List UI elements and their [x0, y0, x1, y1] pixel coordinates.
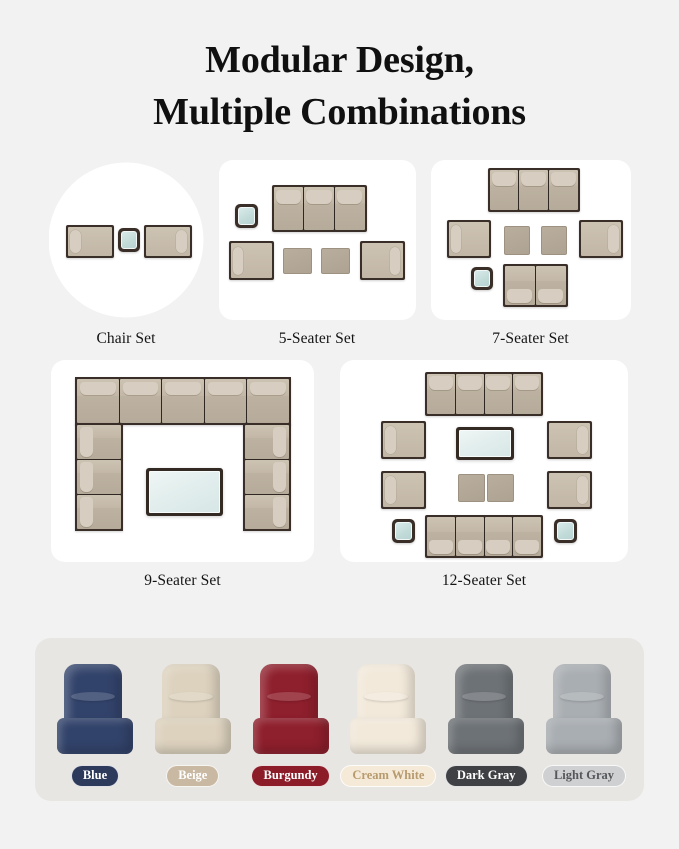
sofa-three-seat-top: [272, 185, 367, 232]
cushion-preview-beige: [153, 664, 233, 756]
set-cell-chair: Chair Set: [49, 160, 204, 348]
chair-lower-right: [547, 471, 592, 509]
seat-cushion: [546, 718, 622, 754]
side-table-bottom-left: [471, 267, 493, 290]
set-row-bottom: 9-Seater Set: [0, 360, 679, 590]
coffee-table-center: [146, 468, 223, 516]
ottoman-right: [541, 226, 567, 255]
color-label-dark-gray: Dark Gray: [445, 765, 528, 787]
layout-diagram-12-seater: [340, 360, 628, 562]
chair-right: [144, 225, 192, 258]
set-label-5-seater-set: 5-Seater Set: [279, 330, 356, 348]
title-line-1: Modular Design,: [0, 34, 679, 86]
cushion-preview-blue: [55, 664, 135, 756]
ottoman-right: [321, 248, 350, 274]
sofa-four-seat-bottom: [425, 515, 543, 558]
set-card-12-seater-set[interactable]: [340, 360, 628, 562]
set-row-top: Chair Set: [0, 160, 679, 348]
ottoman-right: [487, 474, 514, 502]
cushion-preview-cream-white: [348, 664, 428, 756]
seat-cushion: [155, 718, 231, 754]
color-swatch-dark-gray[interactable]: Dark Gray: [440, 664, 532, 787]
chair-left: [66, 225, 114, 258]
layout-diagram-5-seater: [219, 160, 416, 320]
ottoman-left: [283, 248, 312, 274]
chair-left: [447, 220, 491, 258]
coffee-table-center: [456, 427, 514, 460]
chair-bottom-right: [360, 241, 405, 280]
set-cell-5-seater: 5-Seater Set: [219, 160, 416, 348]
set-label-chair-set: Chair Set: [96, 330, 155, 348]
color-swatch-burgundy[interactable]: Burgundy: [245, 664, 337, 787]
color-swatch-cream-white[interactable]: Cream White: [342, 664, 434, 787]
ottoman-left: [504, 226, 530, 255]
set-cell-7-seater: 7-Seater Set: [431, 160, 631, 348]
color-swatch-light-gray[interactable]: Light Gray: [538, 664, 630, 787]
side-table-bottom-left: [392, 519, 415, 543]
color-options-panel: Blue Beige Burgundy Cream White: [35, 638, 644, 801]
side-table-bottom-right: [554, 519, 577, 543]
set-label-7-seater-set: 7-Seater Set: [492, 330, 569, 348]
color-label-blue: Blue: [71, 765, 119, 787]
loveseat-two-seat-bottom: [503, 264, 568, 307]
cushion-preview-dark-gray: [446, 664, 526, 756]
set-card-5-seater-set[interactable]: [219, 160, 416, 320]
chair-bottom-left: [229, 241, 274, 280]
chair-right: [579, 220, 623, 258]
seat-cushion: [448, 718, 524, 754]
sofa-four-seat-top: [425, 372, 543, 416]
seat-cushion: [350, 718, 426, 754]
side-table-left: [235, 204, 258, 228]
set-card-chair-set[interactable]: [49, 160, 204, 320]
color-label-burgundy: Burgundy: [251, 765, 329, 787]
cushion-preview-burgundy: [251, 664, 331, 756]
sectional-right-run: [243, 423, 291, 531]
color-swatch-beige[interactable]: Beige: [147, 664, 239, 787]
layout-diagram-chair-set: [49, 160, 204, 320]
sectional-left-run: [75, 423, 123, 531]
chair-upper-right: [547, 421, 592, 459]
side-table-center: [118, 228, 140, 252]
seat-cushion: [253, 718, 329, 754]
layout-diagram-7-seater: [431, 160, 631, 320]
seat-cushion: [57, 718, 133, 754]
chair-lower-left: [381, 471, 426, 509]
color-swatch-blue[interactable]: Blue: [49, 664, 141, 787]
set-cell-9-seater: 9-Seater Set: [51, 360, 314, 590]
set-card-7-seater-set[interactable]: [431, 160, 631, 320]
cushion-preview-light-gray: [544, 664, 624, 756]
set-card-9-seater-set[interactable]: [51, 360, 314, 562]
sofa-three-seat-top: [488, 168, 580, 212]
color-label-cream-white: Cream White: [340, 765, 436, 787]
ottoman-left: [458, 474, 485, 502]
color-swatch-row: Blue Beige Burgundy Cream White: [35, 638, 644, 801]
color-label-light-gray: Light Gray: [542, 765, 626, 787]
chair-upper-left: [381, 421, 426, 459]
sectional-top-run: [75, 377, 291, 425]
set-label-12-seater-set: 12-Seater Set: [442, 572, 526, 590]
color-label-beige: Beige: [166, 765, 219, 787]
set-label-9-seater-set: 9-Seater Set: [144, 572, 221, 590]
page-title: Modular Design, Multiple Combinations: [0, 0, 679, 138]
set-cell-12-seater: 12-Seater Set: [340, 360, 628, 590]
title-line-2: Multiple Combinations: [0, 86, 679, 138]
layout-diagram-9-seater: [51, 360, 314, 562]
